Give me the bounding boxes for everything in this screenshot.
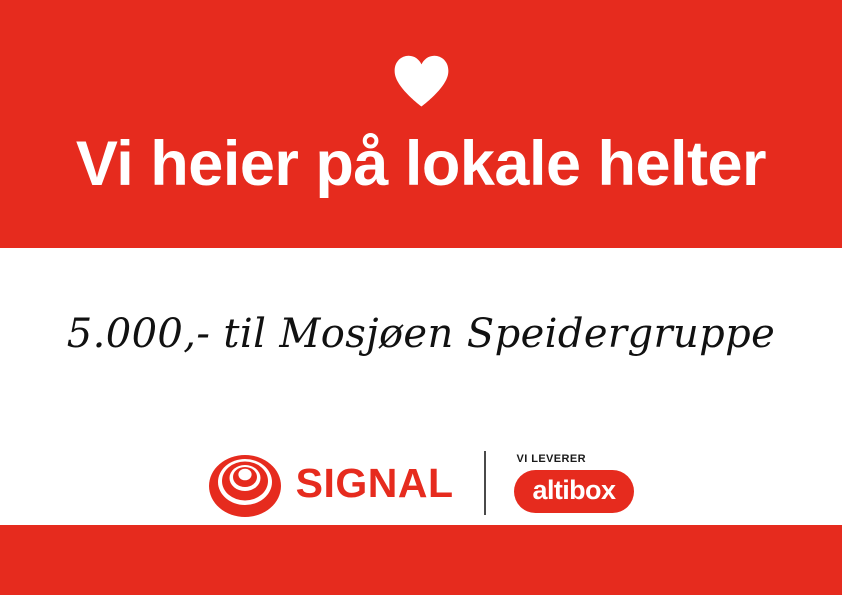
poster-canvas: Vi heier på lokale helter 5.000,- til Mo… (0, 0, 842, 595)
altibox-pill: altibox (514, 470, 635, 513)
page-headline: Vi heier på lokale helter (0, 124, 842, 204)
altibox-kicker-label: VI LEVERER (517, 453, 586, 465)
altibox-logo-lockup: VI LEVERER altibox (514, 453, 635, 513)
award-subtitle: 5.000,- til Mosjøen Speidergruppe (0, 306, 842, 362)
vertical-divider-icon (484, 451, 486, 515)
signal-wordmark: SIGNAL (296, 463, 454, 504)
logo-row: SIGNAL VI LEVERER altibox (0, 444, 842, 522)
bottom-red-band (0, 525, 842, 595)
signal-logo-lockup: SIGNAL (208, 448, 454, 518)
signal-concentric-rings-icon (208, 448, 282, 518)
altibox-wordmark: altibox (533, 477, 616, 504)
